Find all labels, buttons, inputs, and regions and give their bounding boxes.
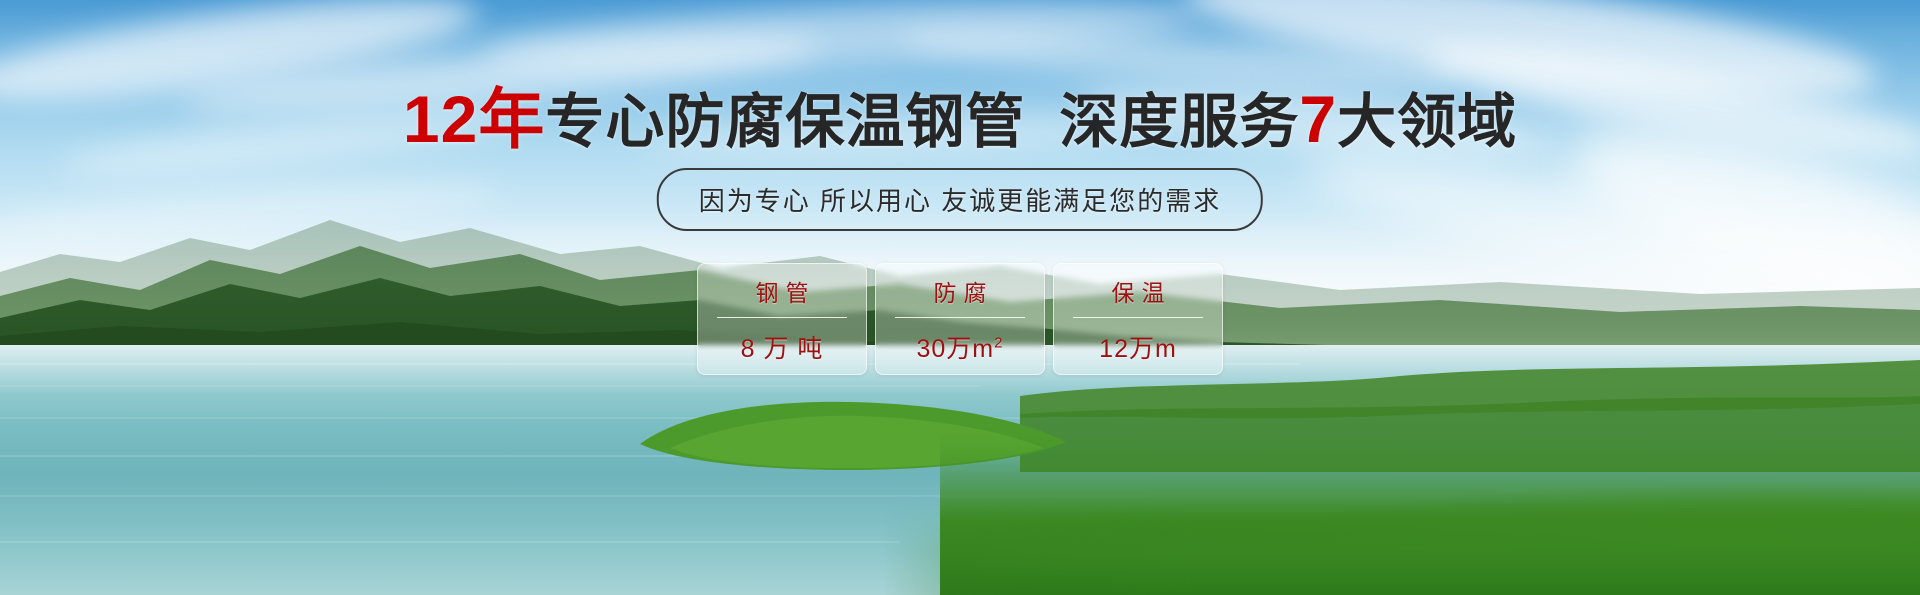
headline-main-text: 专心防腐保温钢管 [545, 89, 1025, 155]
subtitle-pill: 因为专心 所以用心 友诚更能满足您的需求 [657, 168, 1263, 231]
stat-card-label: 钢管 [749, 274, 816, 308]
stat-card-value-base: 12万m [1099, 335, 1177, 363]
stat-card-group: 钢管 8 万 吨 防腐 30万m2 保温 12万m [697, 263, 1223, 375]
hero-banner: 12年专心防腐保温钢管深度服务7大领域 因为专心 所以用心 友诚更能满足您的需求… [0, 0, 1920, 595]
headline-fields-text: 大领域 [1337, 89, 1517, 155]
headline-service-text: 深度服务 [1059, 89, 1299, 155]
stat-card-label: 防腐 [927, 274, 994, 308]
page-title: 12年专心防腐保温钢管深度服务7大领域 [0, 86, 1920, 152]
stat-card-value-base: 30万m [917, 335, 995, 363]
stat-card-steel-pipe[interactable]: 钢管 8 万 吨 [697, 263, 867, 375]
stat-card-value: 8 万 吨 [741, 329, 824, 365]
stat-card-value: 30万m2 [917, 329, 1004, 365]
stat-card-anticorrosion[interactable]: 防腐 30万m2 [875, 263, 1045, 375]
grass-foreground-bottom [0, 500, 1920, 595]
headline-fields-number: 7 [1299, 82, 1337, 156]
stat-card-label: 保温 [1105, 274, 1172, 308]
stat-card-value: 12万m [1099, 329, 1177, 365]
headline-years-number: 12 [403, 82, 478, 156]
stat-card-divider [1073, 317, 1203, 318]
stat-card-divider [717, 317, 847, 318]
headline-years-unit: 年 [478, 82, 545, 156]
stat-card-value-base: 8 万 吨 [741, 335, 824, 363]
stat-card-divider [895, 317, 1025, 318]
water-reflection [0, 385, 980, 387]
stat-card-value-superscript: 2 [994, 334, 1003, 351]
stat-card-insulation[interactable]: 保温 12万m [1053, 263, 1223, 375]
